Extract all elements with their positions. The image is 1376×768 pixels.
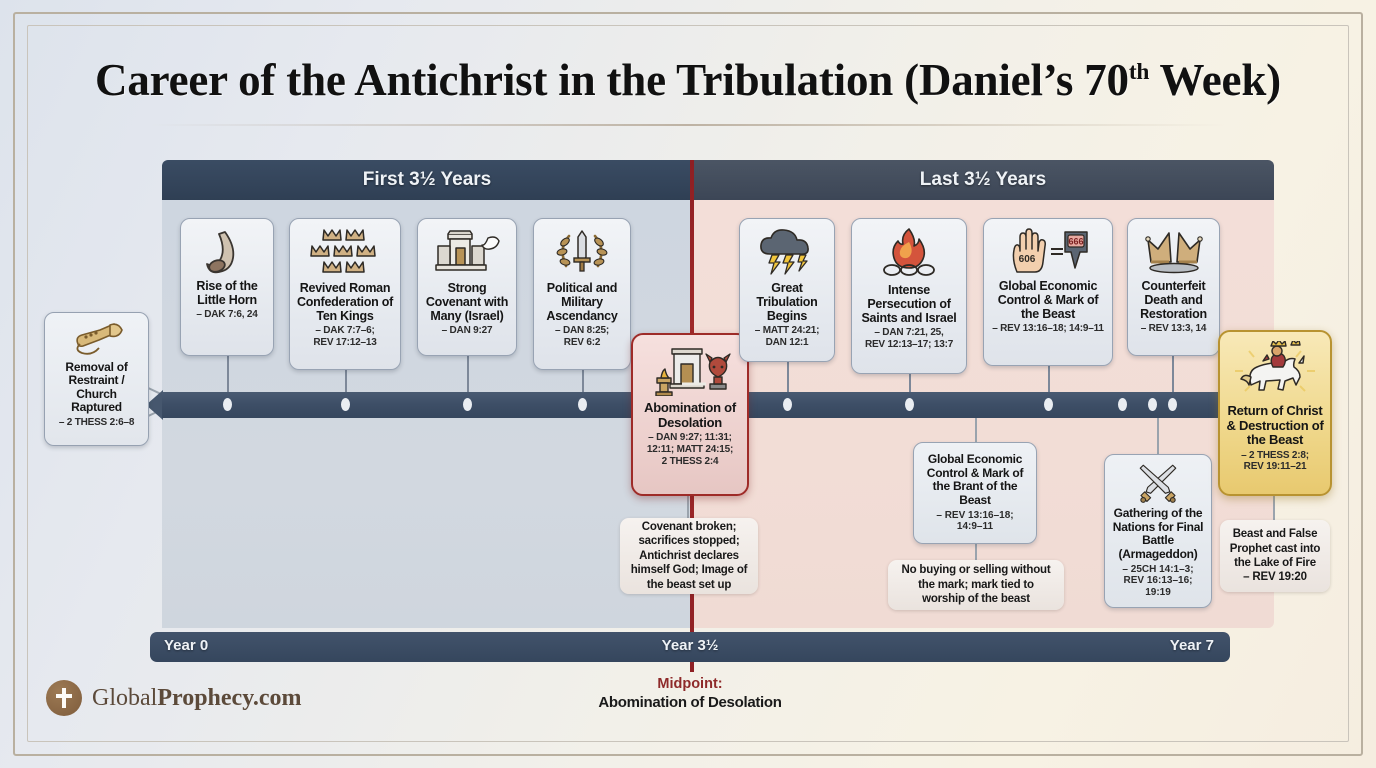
svg-text:606: 606 xyxy=(1019,254,1036,265)
midpoint-caption-label: Midpoint: xyxy=(540,676,840,692)
card-title: Rise of the Little Horn xyxy=(186,279,268,307)
crossed-swords-icon xyxy=(1126,463,1190,503)
broken-crown-icon xyxy=(1143,228,1205,274)
card-political-military-ascendancy[interactable]: Political and Military Ascendancy – DAN … xyxy=(533,218,631,370)
year-midpoint-label: Year 3½ xyxy=(150,637,1230,654)
midpoint-caption-subtitle: Abomination of Desolation xyxy=(540,694,840,711)
connector-stem xyxy=(1273,496,1275,520)
card-reference: – REV 13:3, 14 xyxy=(1141,323,1207,335)
card-title: Return of Christ & Destruction of the Be… xyxy=(1225,404,1325,448)
title-divider xyxy=(150,124,1226,126)
axis-dot xyxy=(783,398,792,411)
trumpet-icon xyxy=(70,322,124,356)
card-reference: – 2 THESS 2:8; REV 19:11–21 xyxy=(1241,450,1309,474)
card-revived-roman-confederation[interactable]: Revived Roman Confederation of Ten Kings… xyxy=(289,218,401,370)
card-reference: – DAN 8:25; REV 6:2 xyxy=(555,325,609,349)
connector-stem xyxy=(687,496,689,518)
card-abomination-of-desolation[interactable]: Abomination of Desolation – DAN 9:27; 11… xyxy=(631,333,749,496)
axis-dot xyxy=(1168,398,1177,411)
connector-stem xyxy=(1172,356,1174,396)
connector-stem xyxy=(975,416,977,442)
card-title: Global Economic Control & Mark of the Br… xyxy=(920,453,1030,508)
brand-text: GlobalProphecy.com xyxy=(92,685,302,712)
axis-dot xyxy=(341,398,350,411)
brand-part2: Prophecy.com xyxy=(157,685,301,711)
cross-icon xyxy=(46,680,82,716)
card-title: Great Tribulation Begins xyxy=(745,281,829,323)
card-title: Gathering of the Nations for Final Battl… xyxy=(1111,507,1205,562)
connector-stem xyxy=(467,356,469,396)
card-removal-of-restraint[interactable]: Removal of Restraint / Church Raptured –… xyxy=(44,312,149,446)
year-axis-bar: Year 0 Year 3½ Year 7 xyxy=(150,632,1230,662)
card-title: Revived Roman Confederation of Ten Kings xyxy=(295,281,395,323)
note-no-buying-or-selling: No buying or selling without the mark; m… xyxy=(888,560,1064,610)
connector-stem xyxy=(227,356,229,396)
axis-dot xyxy=(578,398,587,411)
card-title: Political and Military Ascendancy xyxy=(539,281,625,323)
axis-dot xyxy=(1044,398,1053,411)
card-reference: – DAN 7:21, 25, REV 12:13–17; 13:7 xyxy=(865,327,953,351)
card-title: Strong Covenant with Many (Israel) xyxy=(423,281,511,323)
axis-dot xyxy=(1118,398,1127,411)
axis-dot xyxy=(1148,398,1157,411)
card-reference: – REV 13:16–18; 14:9–11 xyxy=(992,323,1104,335)
hand-666-icon: 606 666 xyxy=(1005,228,1091,274)
axis-dot xyxy=(463,398,472,411)
page-title-after: Week) xyxy=(1149,55,1281,105)
card-title: Abomination of Desolation xyxy=(638,401,742,430)
connector-stem xyxy=(1157,416,1159,454)
card-global-economic-control-lower[interactable]: Global Economic Control & Mark of the Br… xyxy=(913,442,1037,544)
note-beast-false-prophet: Beast and False Prophet cast into the La… xyxy=(1220,520,1330,592)
brand-logo[interactable]: GlobalProphecy.com xyxy=(46,680,302,716)
brand-part1: Global xyxy=(92,685,157,711)
midpoint-caption: Midpoint: Abomination of Desolation xyxy=(540,676,840,711)
card-title: Intense Persecution of Saints and Israel xyxy=(857,283,961,325)
axis-dot xyxy=(905,398,914,411)
card-reference: – MATT 24:21; DAN 12:1 xyxy=(755,325,819,349)
christ-white-horse-icon xyxy=(1229,341,1321,399)
card-reference: – DAK 7:7–6; REV 17:12–13 xyxy=(313,325,376,349)
card-gathering-of-nations[interactable]: Gathering of the Nations for Final Battl… xyxy=(1104,454,1212,608)
card-title: Global Economic Control & Mark of the Be… xyxy=(989,279,1107,321)
connector-stem xyxy=(975,544,977,560)
card-intense-persecution[interactable]: Intense Persecution of Saints and Israel… xyxy=(851,218,967,374)
card-counterfeit-death-restoration[interactable]: Counterfeit Death and Restoration – REV … xyxy=(1127,218,1220,356)
card-reference: – REV 13:16–18; 14:9–11 xyxy=(936,510,1013,534)
card-reference: – 2 THESS 2:6–8 xyxy=(59,417,134,429)
temple-idol-icon xyxy=(644,344,736,396)
connector-stem xyxy=(787,362,789,396)
card-reference: – DAK 7:6, 24 xyxy=(196,309,257,321)
card-global-economic-control-mark[interactable]: 606 666 Global Economic Control & Mark o… xyxy=(983,218,1113,366)
card-great-tribulation-begins[interactable]: Great Tribulation Begins – MATT 24:21; D… xyxy=(739,218,835,362)
temple-dove-icon xyxy=(432,228,502,276)
page-title-ordinal: th xyxy=(1129,59,1149,85)
sword-wreath-icon xyxy=(551,228,613,276)
page-title-before: Career of the Antichrist in the Tribulat… xyxy=(95,55,1129,105)
horn-icon xyxy=(201,228,253,274)
card-title: Counterfeit Death and Restoration xyxy=(1133,279,1214,321)
card-reference: – DAN 9:27 xyxy=(442,325,493,337)
card-reference: – DAN 9:27; 11:31; 12:11; MATT 24:15; 2 … xyxy=(647,432,733,467)
axis-dot xyxy=(223,398,232,411)
card-rise-of-little-horn[interactable]: Rise of the Little Horn – DAK 7:6, 24 xyxy=(180,218,274,356)
card-title: Removal of Restraint / Church Raptured xyxy=(50,361,143,415)
first-half-header: First 3½ Years xyxy=(162,160,692,200)
storm-cloud-icon xyxy=(756,228,818,276)
card-return-of-christ[interactable]: Return of Christ & Destruction of the Be… xyxy=(1218,330,1332,496)
year-end-label: Year 7 xyxy=(1170,637,1214,654)
crowns-icon xyxy=(302,228,388,276)
svg-text:666: 666 xyxy=(1068,237,1083,247)
note-covenant-broken: Covenant broken; sacrifices stopped; Ant… xyxy=(620,518,758,594)
card-reference: – 25CH 14:1–3; REV 16:13–16; 19:19 xyxy=(1111,564,1205,599)
card-strong-covenant[interactable]: Strong Covenant with Many (Israel) – DAN… xyxy=(417,218,517,356)
last-half-header: Last 3½ Years xyxy=(692,160,1274,200)
flame-chains-icon xyxy=(878,228,940,278)
note-text: Beast and False Prophet cast into the La… xyxy=(1228,527,1322,585)
page-title: Career of the Antichrist in the Tribulat… xyxy=(0,54,1376,106)
